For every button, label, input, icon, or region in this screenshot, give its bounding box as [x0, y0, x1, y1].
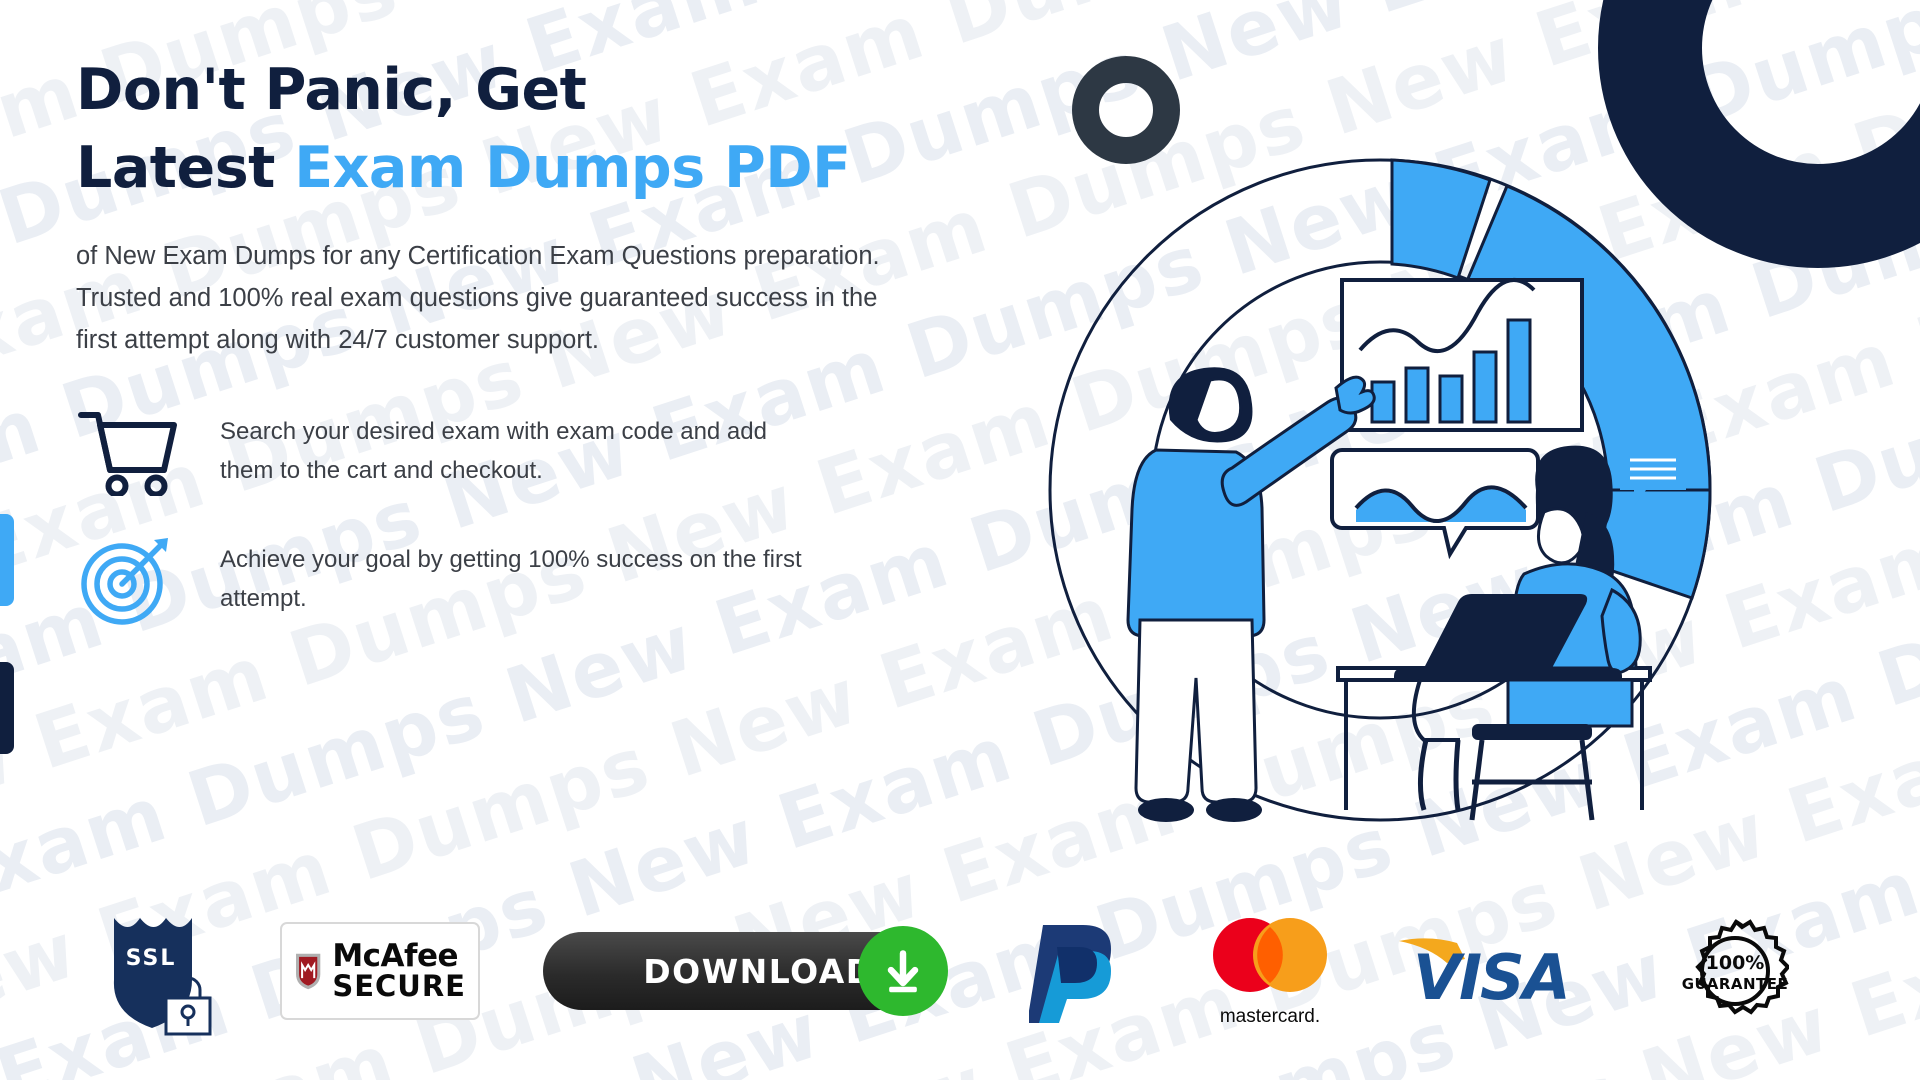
download-arrow-icon: [858, 926, 948, 1016]
guarantee-seal-icon: 100% GUARANTEE: [1681, 917, 1789, 1025]
headline-line-2-prefix: Latest: [76, 135, 294, 201]
mcafee-shield-icon: [294, 935, 322, 1007]
edge-accent-bar-navy: [0, 662, 14, 754]
watermark-row: New Exam Dumps New Exam Dumps New Exam D…: [132, 1030, 1920, 1080]
mcafee-line-1: McAfee: [332, 941, 466, 972]
guarantee-percent: 100%: [1706, 952, 1765, 974]
trust-badges-row: SSL McAfee SECURE: [70, 906, 1860, 1036]
edge-accent-bar-blue: [0, 514, 14, 606]
visa-logo: VISA: [1370, 933, 1640, 1009]
ssl-badge: SSL: [70, 912, 250, 1030]
mastercard-logo: mastercard.: [1170, 915, 1370, 1028]
mcafee-line-2: SECURE: [332, 972, 466, 1001]
headline-line-2-accent: Exam Dumps PDF: [294, 135, 850, 201]
mastercard-logo-icon: [1200, 915, 1340, 999]
feature-item-goal: Achieve your goal by getting 100% succes…: [76, 537, 916, 623]
team-analytics-illustration: [1020, 120, 1780, 860]
feature-text: Search your desired exam with exam code …: [220, 413, 820, 491]
guarantee-label: GUARANTEE: [1682, 975, 1789, 993]
paypal-logo-icon: [1029, 919, 1121, 1023]
ssl-label: SSL: [108, 946, 194, 971]
guarantee-badge: 100% GUARANTEE: [1640, 917, 1830, 1025]
visa-logo-icon: VISA: [1397, 933, 1613, 1009]
download-button-wrapper: DOWNLOAD: [510, 932, 980, 1010]
mcafee-secure-badge: McAfee SECURE: [250, 922, 510, 1020]
content-column: Don't Panic, Get Latest Exam Dumps PDF o…: [76, 52, 916, 665]
paypal-logo: [980, 919, 1170, 1023]
feature-item-cart: Search your desired exam with exam code …: [76, 409, 916, 495]
mastercard-label: mastercard.: [1200, 1006, 1340, 1028]
headline-line-1: Don't Panic, Get: [76, 57, 586, 123]
feature-text: Achieve your goal by getting 100% succes…: [220, 541, 820, 619]
promo-banner: New Exam Dumps New Exam Dumps New Exam D…: [0, 0, 1920, 1080]
shopping-cart-icon: [76, 409, 180, 495]
ssl-shield-lock-icon: SSL: [108, 912, 212, 1030]
target-dartboard-icon: [76, 537, 180, 623]
svg-text:VISA: VISA: [1413, 941, 1569, 1009]
feature-list: Search your desired exam with exam code …: [76, 409, 916, 623]
download-button[interactable]: DOWNLOAD: [543, 932, 947, 1010]
page-title: Don't Panic, Get Latest Exam Dumps PDF: [76, 52, 916, 207]
intro-paragraph: of New Exam Dumps for any Certification …: [76, 235, 908, 361]
